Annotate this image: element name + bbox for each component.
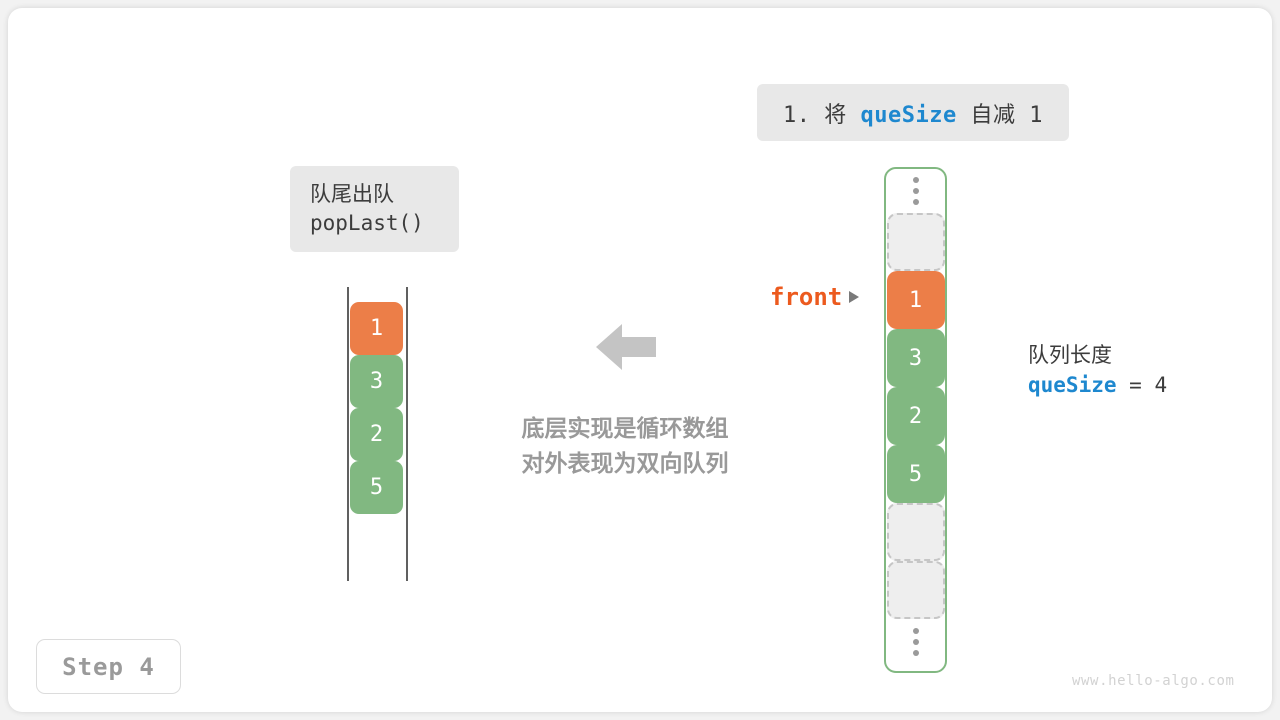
array-cell: 2 — [887, 387, 945, 445]
array-cell: 3 — [887, 329, 945, 387]
step-instruction-keyword: queSize — [861, 103, 957, 128]
step-badge: Step 4 — [36, 639, 181, 694]
queue-size-value: 4 — [1154, 373, 1167, 397]
left-deque-cells: 1 3 2 5 — [350, 302, 403, 514]
left-deque-cell: 1 — [350, 302, 403, 355]
operation-label-method: popLast() — [310, 211, 424, 236]
middle-caption-line1: 底层实现是循环数组 — [500, 412, 750, 447]
middle-caption-line2: 对外表现为双向队列 — [500, 447, 750, 482]
queue-size-variable: queSize — [1028, 373, 1117, 397]
array-cell-front: 1 — [887, 271, 945, 329]
step-instruction-prefix: 1. 将 — [783, 103, 860, 128]
vertical-ellipsis-icon — [913, 168, 919, 213]
operation-label-title: 队尾出队 — [310, 182, 394, 207]
array-cell-empty — [887, 503, 945, 561]
operation-label-box: 队尾出队 popLast() — [290, 166, 459, 252]
diagram-canvas: 1. 将 queSize 自减 1 队尾出队 popLast() 1 3 2 5… — [0, 0, 1280, 720]
caret-right-icon — [849, 291, 859, 303]
vertical-ellipsis-icon — [913, 619, 919, 664]
queue-size-expression: queSize = 4 — [1028, 370, 1167, 400]
watermark: www.hello-algo.com — [1072, 673, 1235, 689]
array-cell-empty — [887, 561, 945, 619]
circular-array-cells: 1 3 2 5 — [886, 168, 945, 672]
array-cell-empty — [887, 213, 945, 271]
queue-size-title: 队列长度 — [1028, 340, 1167, 370]
array-cell: 5 — [887, 445, 945, 503]
queue-size-equals: = — [1117, 373, 1155, 397]
left-deque-cell: 3 — [350, 355, 403, 408]
step-instruction-banner: 1. 将 queSize 自减 1 — [757, 84, 1069, 141]
step-instruction-text: 1. 将 queSize 自减 1 — [783, 97, 1043, 129]
front-pointer-label: front — [770, 283, 842, 311]
queue-size-note: 队列长度 queSize = 4 — [1028, 340, 1167, 401]
middle-caption: 底层实现是循环数组 对外表现为双向队列 — [500, 412, 750, 481]
arrow-left-icon — [596, 322, 656, 372]
front-pointer: front — [770, 283, 859, 311]
left-deque-cell: 5 — [350, 461, 403, 514]
left-deque-cell: 2 — [350, 408, 403, 461]
step-badge-label: Step 4 — [62, 653, 155, 681]
step-instruction-suffix: 自减 1 — [957, 103, 1043, 128]
